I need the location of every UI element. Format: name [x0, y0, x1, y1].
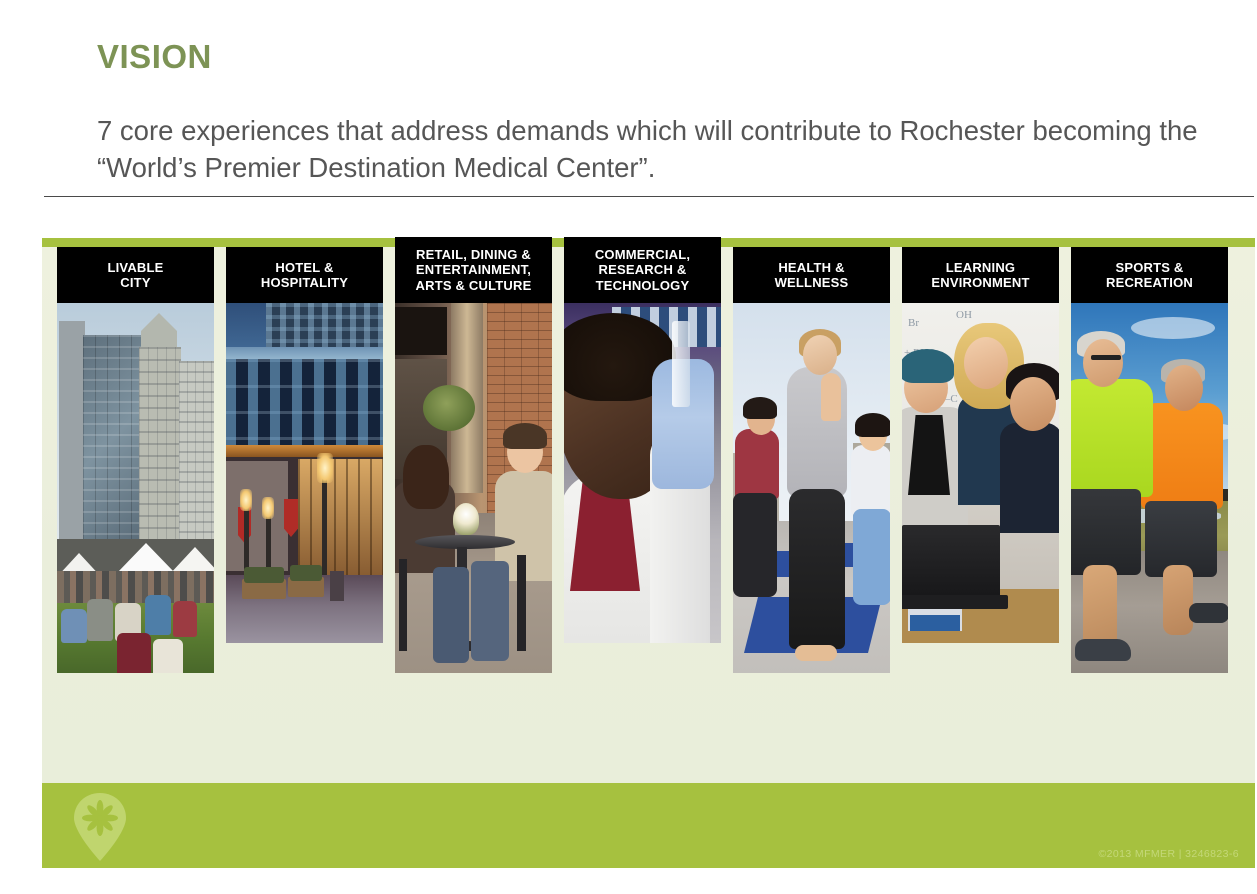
photo-lit-storefront: [298, 459, 383, 575]
photo-shrub: [244, 567, 284, 583]
photo-bare-foot: [795, 645, 837, 661]
photo-lamp-post: [322, 465, 327, 585]
photo-prayer-hands: [821, 373, 841, 421]
photo-glass-tower: [83, 335, 145, 567]
photo-textbook: [910, 615, 960, 631]
photo-sample-vial: [672, 321, 690, 407]
photo-lamp-light: [240, 489, 252, 511]
photo-laptop-keyboard: [902, 595, 1008, 609]
photo-whiteboard-writing: OH: [956, 309, 972, 321]
photo-person: [145, 595, 171, 635]
photo-awning: [226, 445, 383, 457]
experience-column-learning-environment[interactable]: LEARNINGENVIRONMENT Br + RHO OH C—C: [902, 247, 1059, 792]
column-photo-retail-dining: [395, 303, 552, 673]
column-label-learning-environment: LEARNINGENVIRONMENT: [902, 247, 1059, 303]
column-label-livable-city: LIVABLECITY: [57, 247, 214, 303]
photo-yoga-instructor-head: [803, 335, 837, 375]
photo-chair-leg: [517, 555, 526, 651]
column-label-text: HOTEL &HOSPITALITY: [261, 260, 348, 291]
column-label-text: LIVABLECITY: [107, 260, 163, 291]
destination-medical-center-pin-logo: [69, 791, 131, 863]
photo-trash-bin: [330, 571, 344, 601]
photo-building-left: [59, 321, 85, 541]
photo-jeans: [471, 561, 509, 661]
photo-runner-1-jacket: [1071, 379, 1153, 497]
photo-hanging-plant: [423, 385, 475, 431]
slide-footer: ©2013 MFMER | 3246823-6: [42, 783, 1255, 868]
photo-person: [61, 609, 87, 643]
photo-participant-left: [735, 429, 779, 499]
photo-lamp-light: [317, 453, 333, 483]
column-photo-commercial-research: [564, 303, 721, 643]
photo-student-2-head: [964, 337, 1008, 389]
photo-shrub: [290, 565, 322, 581]
column-label-text: RETAIL, DINING &ENTERTAINMENT,ARTS & CUL…: [416, 247, 532, 294]
photo-student-1-beanie: [902, 349, 954, 383]
column-photo-health-wellness: [733, 303, 890, 673]
photo-brick-building: [226, 461, 288, 571]
photo-runner-2-jacket: [1141, 403, 1223, 509]
experience-column-hotel-hospitality[interactable]: HOTEL &HOSPITALITY: [226, 247, 383, 792]
photo-jeans: [433, 567, 469, 663]
photo-man-hair: [503, 423, 547, 449]
photo-table-flowers: [453, 503, 479, 535]
column-photo-livable-city: [57, 303, 214, 673]
experiences-panel: LIVABLECITY: [42, 238, 1255, 783]
photo-runner-1-shorts: [1071, 489, 1141, 575]
photo-student-3-head: [1010, 377, 1056, 431]
photo-runner-2-head: [1165, 365, 1203, 411]
photo-woman-hair: [403, 445, 449, 509]
photo-person: [173, 601, 197, 637]
experience-columns: LIVABLECITY: [42, 247, 1255, 792]
column-label-health-wellness: HEALTH &WELLNESS: [733, 247, 890, 303]
photo-student-3-body: [1000, 423, 1059, 533]
photo-runner-1-glasses: [1091, 355, 1121, 360]
photo-yoga-instructor-pants: [789, 489, 845, 649]
experience-column-health-wellness[interactable]: HEALTH &WELLNESS: [733, 247, 890, 792]
column-label-commercial-research: COMMERCIAL,RESEARCH &TECHNOLOGY: [564, 237, 721, 303]
column-label-sports-recreation: SPORTS &RECREATION: [1071, 247, 1228, 303]
photo-runner-1-head: [1083, 339, 1123, 387]
experience-column-livable-city[interactable]: LIVABLECITY: [57, 247, 214, 792]
photo-participant-left-pants: [733, 493, 777, 597]
column-label-text: HEALTH &WELLNESS: [775, 260, 849, 291]
photo-whiteboard-writing: Br: [908, 317, 919, 329]
header-divider: [44, 196, 1254, 197]
photo-participant-right-pants: [853, 509, 890, 605]
photo-chair-leg: [399, 559, 407, 651]
photo-shop-sign: [395, 307, 447, 355]
photo-runner-2-shoe: [1189, 603, 1228, 623]
column-photo-sports-recreation: [1071, 303, 1228, 673]
column-label-retail-dining: RETAIL, DINING &ENTERTAINMENT,ARTS & CUL…: [395, 237, 552, 303]
column-label-text: COMMERCIAL,RESEARCH &TECHNOLOGY: [595, 247, 690, 294]
photo-participant-left-hair: [743, 397, 777, 419]
photo-participant-right: [851, 445, 890, 515]
page-subtitle: 7 core experiences that address demands …: [97, 112, 1217, 186]
photo-lamp-light: [262, 497, 274, 519]
slide-header: VISION 7 core experiences that address d…: [0, 0, 1257, 208]
photo-person: [153, 639, 183, 673]
photo-cloud: [1131, 317, 1215, 339]
experience-column-sports-recreation[interactable]: SPORTS &RECREATION: [1071, 247, 1228, 792]
photo-runner-1-shoe: [1075, 639, 1131, 661]
experience-column-commercial-research[interactable]: COMMERCIAL,RESEARCH &TECHNOLOGY: [564, 247, 721, 792]
photo-building-mid: [139, 347, 181, 559]
column-label-hotel-hospitality: HOTEL &HOSPITALITY: [226, 247, 383, 303]
photo-participant-right-hair: [855, 413, 890, 437]
column-label-text: LEARNINGENVIRONMENT: [931, 260, 1029, 291]
photo-building-right: [179, 361, 214, 559]
column-photo-learning-environment: Br + RHO OH C—C: [902, 303, 1059, 643]
photo-glass-facade: [226, 359, 383, 445]
page-title: VISION: [97, 38, 212, 76]
photo-runner-2-leg: [1163, 565, 1193, 635]
photo-person: [117, 633, 151, 673]
photo-laptop-screen: [902, 525, 1000, 603]
photo-person: [87, 599, 113, 641]
column-photo-hotel-hospitality: [226, 303, 383, 643]
column-label-text: SPORTS &RECREATION: [1106, 260, 1193, 291]
experience-column-retail-dining[interactable]: RETAIL, DINING &ENTERTAINMENT,ARTS & CUL…: [395, 247, 552, 792]
photo-runner-1-leg: [1083, 565, 1117, 649]
copyright-credit: ©2013 MFMER | 3246823-6: [1099, 848, 1239, 860]
